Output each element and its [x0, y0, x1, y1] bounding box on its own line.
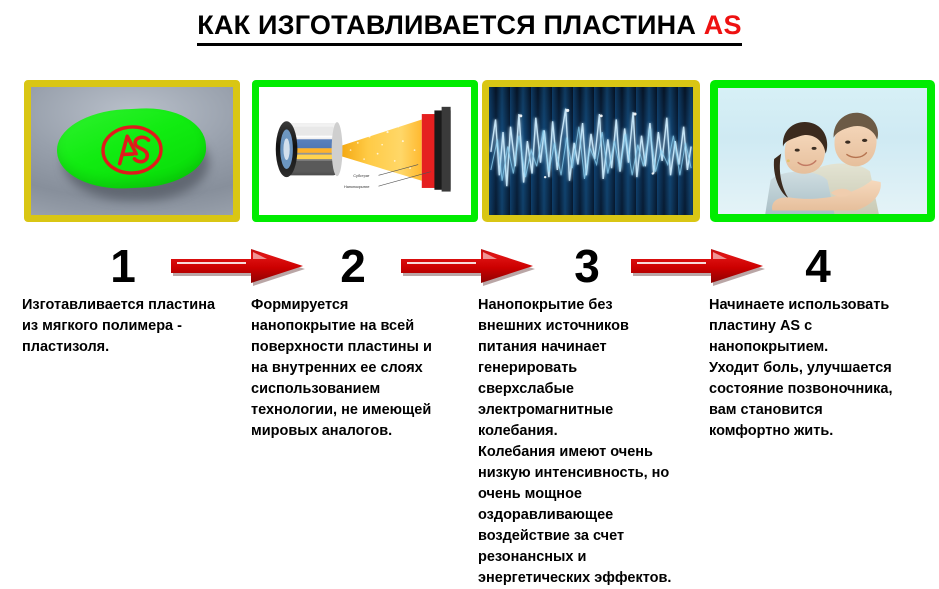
- page-title-main: КАК ИЗГОТАВЛИВАЕТСЯ ПЛАСТИНА: [197, 10, 703, 40]
- as-plate-photo: [31, 87, 233, 215]
- arrow-step-3-to-4: [628, 246, 766, 286]
- couple-illustration: [718, 88, 927, 214]
- step-1-description: Изготавливается пластина из мягкого поли…: [22, 295, 244, 358]
- page-title-accent: AS: [704, 10, 742, 40]
- waveform-graphic: [489, 87, 693, 215]
- step-4-image-frame: [710, 80, 935, 222]
- as-logo-icon: [98, 121, 167, 178]
- step-3-image-frame: [482, 80, 700, 222]
- step-2-description: Формируется нанопокрытие на всей поверхн…: [251, 295, 473, 442]
- electromagnetic-waves-photo: [489, 87, 693, 215]
- step-3-description: Нанопокрытие без внешних источников пита…: [478, 295, 702, 589]
- spray-nozzle-illustration: Субстрат Нанопокрытие: [259, 87, 471, 215]
- nanocoating-spray-diagram: Субстрат Нанопокрытие: [259, 87, 471, 215]
- step-2-image-frame: Субстрат Нанопокрытие: [252, 80, 478, 222]
- svg-text:Нанопокрытие: Нанопокрытие: [344, 185, 370, 189]
- step-number-4: 4: [798, 243, 838, 289]
- page-title: КАК ИЗГОТАВЛИВАЕТСЯ ПЛАСТИНА AS: [197, 10, 741, 46]
- step-4-description: Начинаете использовать пластину AS с нан…: [709, 295, 935, 442]
- happy-couple-photo: [718, 88, 927, 214]
- step-number-3: 3: [567, 243, 607, 289]
- arrow-step-1-to-2: [168, 246, 306, 286]
- svg-text:Субстрат: Субстрат: [353, 174, 369, 178]
- step-number-2: 2: [333, 243, 373, 289]
- title-bar: КАК ИЗГОТАВЛИВАЕТСЯ ПЛАСТИНА AS: [0, 10, 939, 46]
- arrow-step-2-to-3: [398, 246, 536, 286]
- step-1-image-frame: [24, 80, 240, 222]
- step-number-1: 1: [103, 243, 143, 289]
